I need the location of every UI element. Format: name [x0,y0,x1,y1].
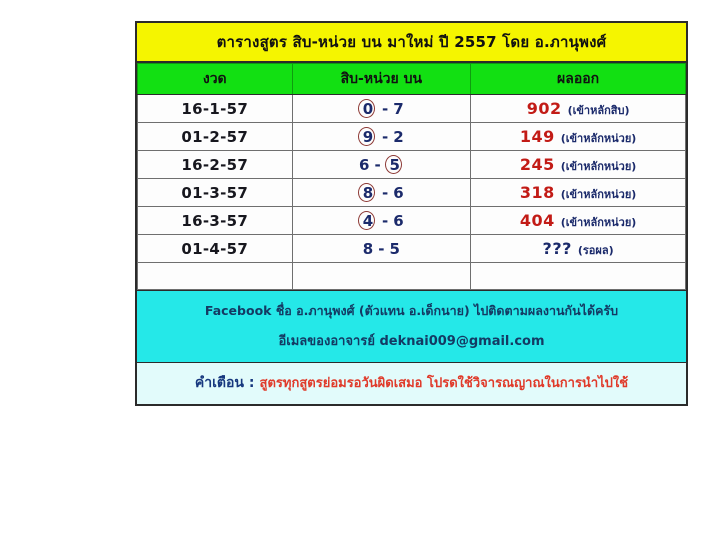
facebook-line: Facebook ชื่อ อ.ภานุพงศ์ (ตัวแทน อ.เด็กน… [137,298,686,324]
result-number: 318 [520,185,555,201]
formula-pair: 8-5 [362,242,401,257]
period-value: 16-2-57 [181,156,248,174]
table-row: 16-2-576-5245(เข้าหลักหน่วย) [138,151,686,179]
table-row: 01-4-578-5???(รอผล) [138,235,686,263]
result-note: (เข้าหลักหน่วย) [561,189,637,200]
formula-pair: 9-2 [358,128,405,146]
formula-dash: - [376,242,386,257]
formula-pair: 8-6 [358,184,405,202]
result-number: 149 [520,129,555,145]
cell-period: 16-2-57 [138,151,293,179]
formula-digit-second: 5 [385,156,405,174]
cell-result: 404(เข้าหลักหน่วย) [471,207,686,235]
table-row: 01-2-579-2149(เข้าหลักหน่วย) [138,123,686,151]
result-number: 902 [527,101,562,117]
result-number: 404 [520,213,555,229]
warning-text: สูตรทุกสูตรย่อมรอวันผิดเสมอ โปรดใช้วิจาร… [260,376,629,391]
formula-dash: - [380,102,390,117]
cell-blank [292,263,471,290]
cell-formula: 8-6 [292,179,471,207]
formula-digit-second: 7 [392,102,404,117]
page-root: ตารางสูตร สิบ-หน่วย บน มาใหม่ ปี 2557 โด… [0,0,711,540]
formula-dash: - [372,158,382,173]
cell-formula: 8-5 [292,235,471,263]
table-row: 01-3-578-6318(เข้าหลักหน่วย) [138,179,686,207]
cell-result: 318(เข้าหลักหน่วย) [471,179,686,207]
cell-result: 149(เข้าหลักหน่วย) [471,123,686,151]
cell-result: 902(เข้าหลักสิบ) [471,95,686,123]
cell-formula: 0-7 [292,95,471,123]
formula-pair: 4-6 [358,212,405,230]
formula-digit-first: 9 [358,128,378,146]
warning-section: คำเตือน : สูตรทุกสูตรย่อมรอวันผิดเสมอ โป… [137,363,686,404]
period-value: 16-1-57 [181,100,248,118]
table-blank-row [138,263,686,290]
warning-label: คำเตือน : [195,375,255,391]
cell-period: 01-3-57 [138,179,293,207]
column-header-result: ผลออก [471,64,686,95]
result-group: 245(เข้าหลักหน่วย) [471,157,685,173]
cell-period: 16-3-57 [138,207,293,235]
cell-blank [138,263,293,290]
table-header: งวด สิบ-หน่วย บน ผลออก [138,64,686,95]
column-header-formula-label: สิบ-หน่วย บน [341,71,422,87]
page-title: ตารางสูตร สิบ-หน่วย บน มาใหม่ ปี 2557 โด… [217,30,607,54]
cell-formula: 9-2 [292,123,471,151]
formula-digit-second: 5 [388,242,400,257]
formula-digit-first: 0 [358,100,378,118]
table-header-row: งวด สิบ-หน่วย บน ผลออก [138,64,686,95]
formula-pair: 6-5 [358,156,405,174]
column-header-formula: สิบ-หน่วย บน [292,64,471,95]
formula-digit-first: 8 [358,184,378,202]
result-group: 318(เข้าหลักหน่วย) [471,185,685,201]
cell-result: 245(เข้าหลักหน่วย) [471,151,686,179]
contact-section: Facebook ชื่อ อ.ภานุพงศ์ (ตัวแทน อ.เด็กน… [137,290,686,363]
cell-result: ???(รอผล) [471,235,686,263]
table-row: 16-3-574-6404(เข้าหลักหน่วย) [138,207,686,235]
cell-blank [471,263,686,290]
formula-digit-second: 6 [392,214,404,229]
cell-period: 01-2-57 [138,123,293,151]
result-number: 245 [520,157,555,173]
formula-card: ตารางสูตร สิบ-หน่วย บน มาใหม่ ปี 2557 โด… [135,21,688,406]
result-group: 902(เข้าหลักสิบ) [471,101,685,117]
formula-dash: - [380,130,390,145]
formula-dash: - [380,186,390,201]
formula-pair: 0-7 [358,100,405,118]
column-header-result-label: ผลออก [557,71,599,87]
period-value: 01-4-57 [181,240,248,258]
formula-digit-second: 6 [392,186,404,201]
column-header-period: งวด [138,64,293,95]
formula-digit-first: 8 [362,242,374,257]
table-body: 16-1-570-7902(เข้าหลักสิบ)01-2-579-2149(… [138,95,686,290]
result-note: (เข้าหลักหน่วย) [561,161,637,172]
cell-formula: 4-6 [292,207,471,235]
result-note: (รอผล) [578,245,614,256]
period-value: 16-3-57 [181,212,248,230]
formula-table: งวด สิบ-หน่วย บน ผลออก 16-1-570-7902(เข้… [137,63,686,290]
result-group: ???(รอผล) [471,241,685,257]
formula-digit-first: 6 [358,158,370,173]
email-line: อีเมลของอาจารย์ deknai009@gmail.com [137,324,686,354]
result-note: (เข้าหลักหน่วย) [561,133,637,144]
cell-formula: 6-5 [292,151,471,179]
formula-dash: - [380,214,390,229]
cell-period: 01-4-57 [138,235,293,263]
period-value: 01-3-57 [181,184,248,202]
formula-digit-first: 4 [358,212,378,230]
formula-digit-second: 2 [392,130,404,145]
table-row: 16-1-570-7902(เข้าหลักสิบ) [138,95,686,123]
result-number: ??? [543,241,572,257]
cell-period: 16-1-57 [138,95,293,123]
result-group: 404(เข้าหลักหน่วย) [471,213,685,229]
card-title-bar: ตารางสูตร สิบ-หน่วย บน มาใหม่ ปี 2557 โด… [137,23,686,63]
result-note: (เข้าหลักสิบ) [568,105,630,116]
result-note: (เข้าหลักหน่วย) [561,217,637,228]
result-group: 149(เข้าหลักหน่วย) [471,129,685,145]
period-value: 01-2-57 [181,128,248,146]
column-header-period-label: งวด [203,71,227,87]
